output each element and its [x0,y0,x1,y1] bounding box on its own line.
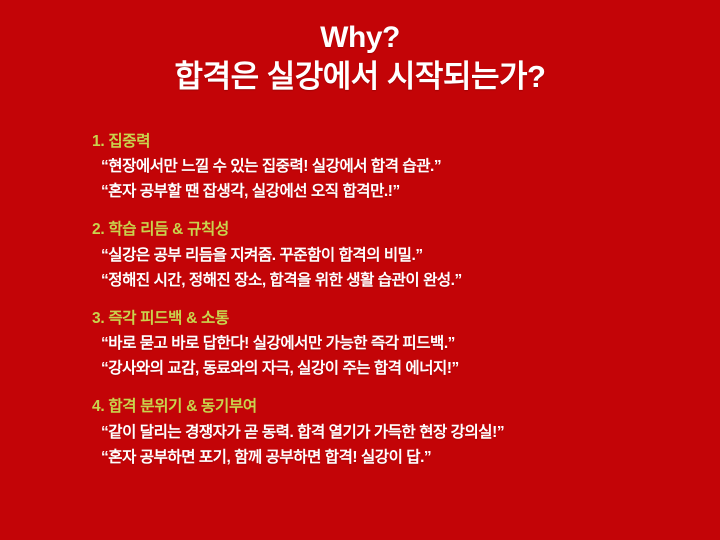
quote-line: “실강은 공부 리듬을 지켜줌. 꾸준함이 합격의 비밀.” [101,243,692,268]
quote-line: “같이 달리는 경쟁자가 곧 동력. 합격 열기가 가득한 현장 강의실!” [101,420,692,445]
title-line-korean: 합격은 실강에서 시작되는가? [0,60,720,93]
list-item: 2. 학습 리듬 & 규칙성 “실강은 공부 리듬을 지켜줌. 꾸준함이 합격의… [92,218,692,292]
section-quotes-3: “바로 묻고 바로 답한다! 실강에서만 가능한 즉각 피드백.” “강사와의 … [92,331,692,381]
section-quotes-1: “현장에서만 느낄 수 있는 집중력! 실강에서 합격 습관.” “혼자 공부할… [92,154,692,204]
quote-line: “현장에서만 느낄 수 있는 집중력! 실강에서 합격 습관.” [101,154,692,179]
reasons-list: 1. 집중력 “현장에서만 느낄 수 있는 집중력! 실강에서 합격 습관.” … [92,130,692,470]
quote-line: “바로 묻고 바로 답한다! 실강에서만 가능한 즉각 피드백.” [101,331,692,356]
quote-line: “혼자 공부할 땐 잡생각, 실강에선 오직 합격만.!” [101,179,692,204]
section-quotes-4: “같이 달리는 경쟁자가 곧 동력. 합격 열기가 가득한 현장 강의실!” “… [92,420,692,470]
quote-line: “정해진 시간, 정해진 장소, 합격을 위한 생활 습관이 완성.” [101,268,692,293]
quote-line: “혼자 공부하면 포기, 함께 공부하면 합격! 실강이 답.” [101,445,692,470]
list-item: 1. 집중력 “현장에서만 느낄 수 있는 집중력! 실강에서 합격 습관.” … [92,130,692,204]
list-item: 4. 합격 분위기 & 동기부여 “같이 달리는 경쟁자가 곧 동력. 합격 열… [92,395,692,469]
presentation-slide: Why? 합격은 실강에서 시작되는가? 1. 집중력 “현장에서만 느낄 수 … [0,0,720,540]
section-heading-1: 1. 집중력 [92,130,692,153]
section-heading-3: 3. 즉각 피드백 & 소통 [92,307,692,330]
section-heading-2: 2. 학습 리듬 & 규칙성 [92,218,692,241]
quote-line: “강사와의 교감, 동료와의 자극, 실강이 주는 합격 에너지!” [101,356,692,381]
section-quotes-2: “실강은 공부 리듬을 지켜줌. 꾸준함이 합격의 비밀.” “정해진 시간, … [92,243,692,293]
list-item: 3. 즉각 피드백 & 소통 “바로 묻고 바로 답한다! 실강에서만 가능한 … [92,307,692,381]
section-heading-4: 4. 합격 분위기 & 동기부여 [92,395,692,418]
slide-title: Why? 합격은 실강에서 시작되는가? [0,22,720,94]
title-line-english: Why? [0,22,720,54]
